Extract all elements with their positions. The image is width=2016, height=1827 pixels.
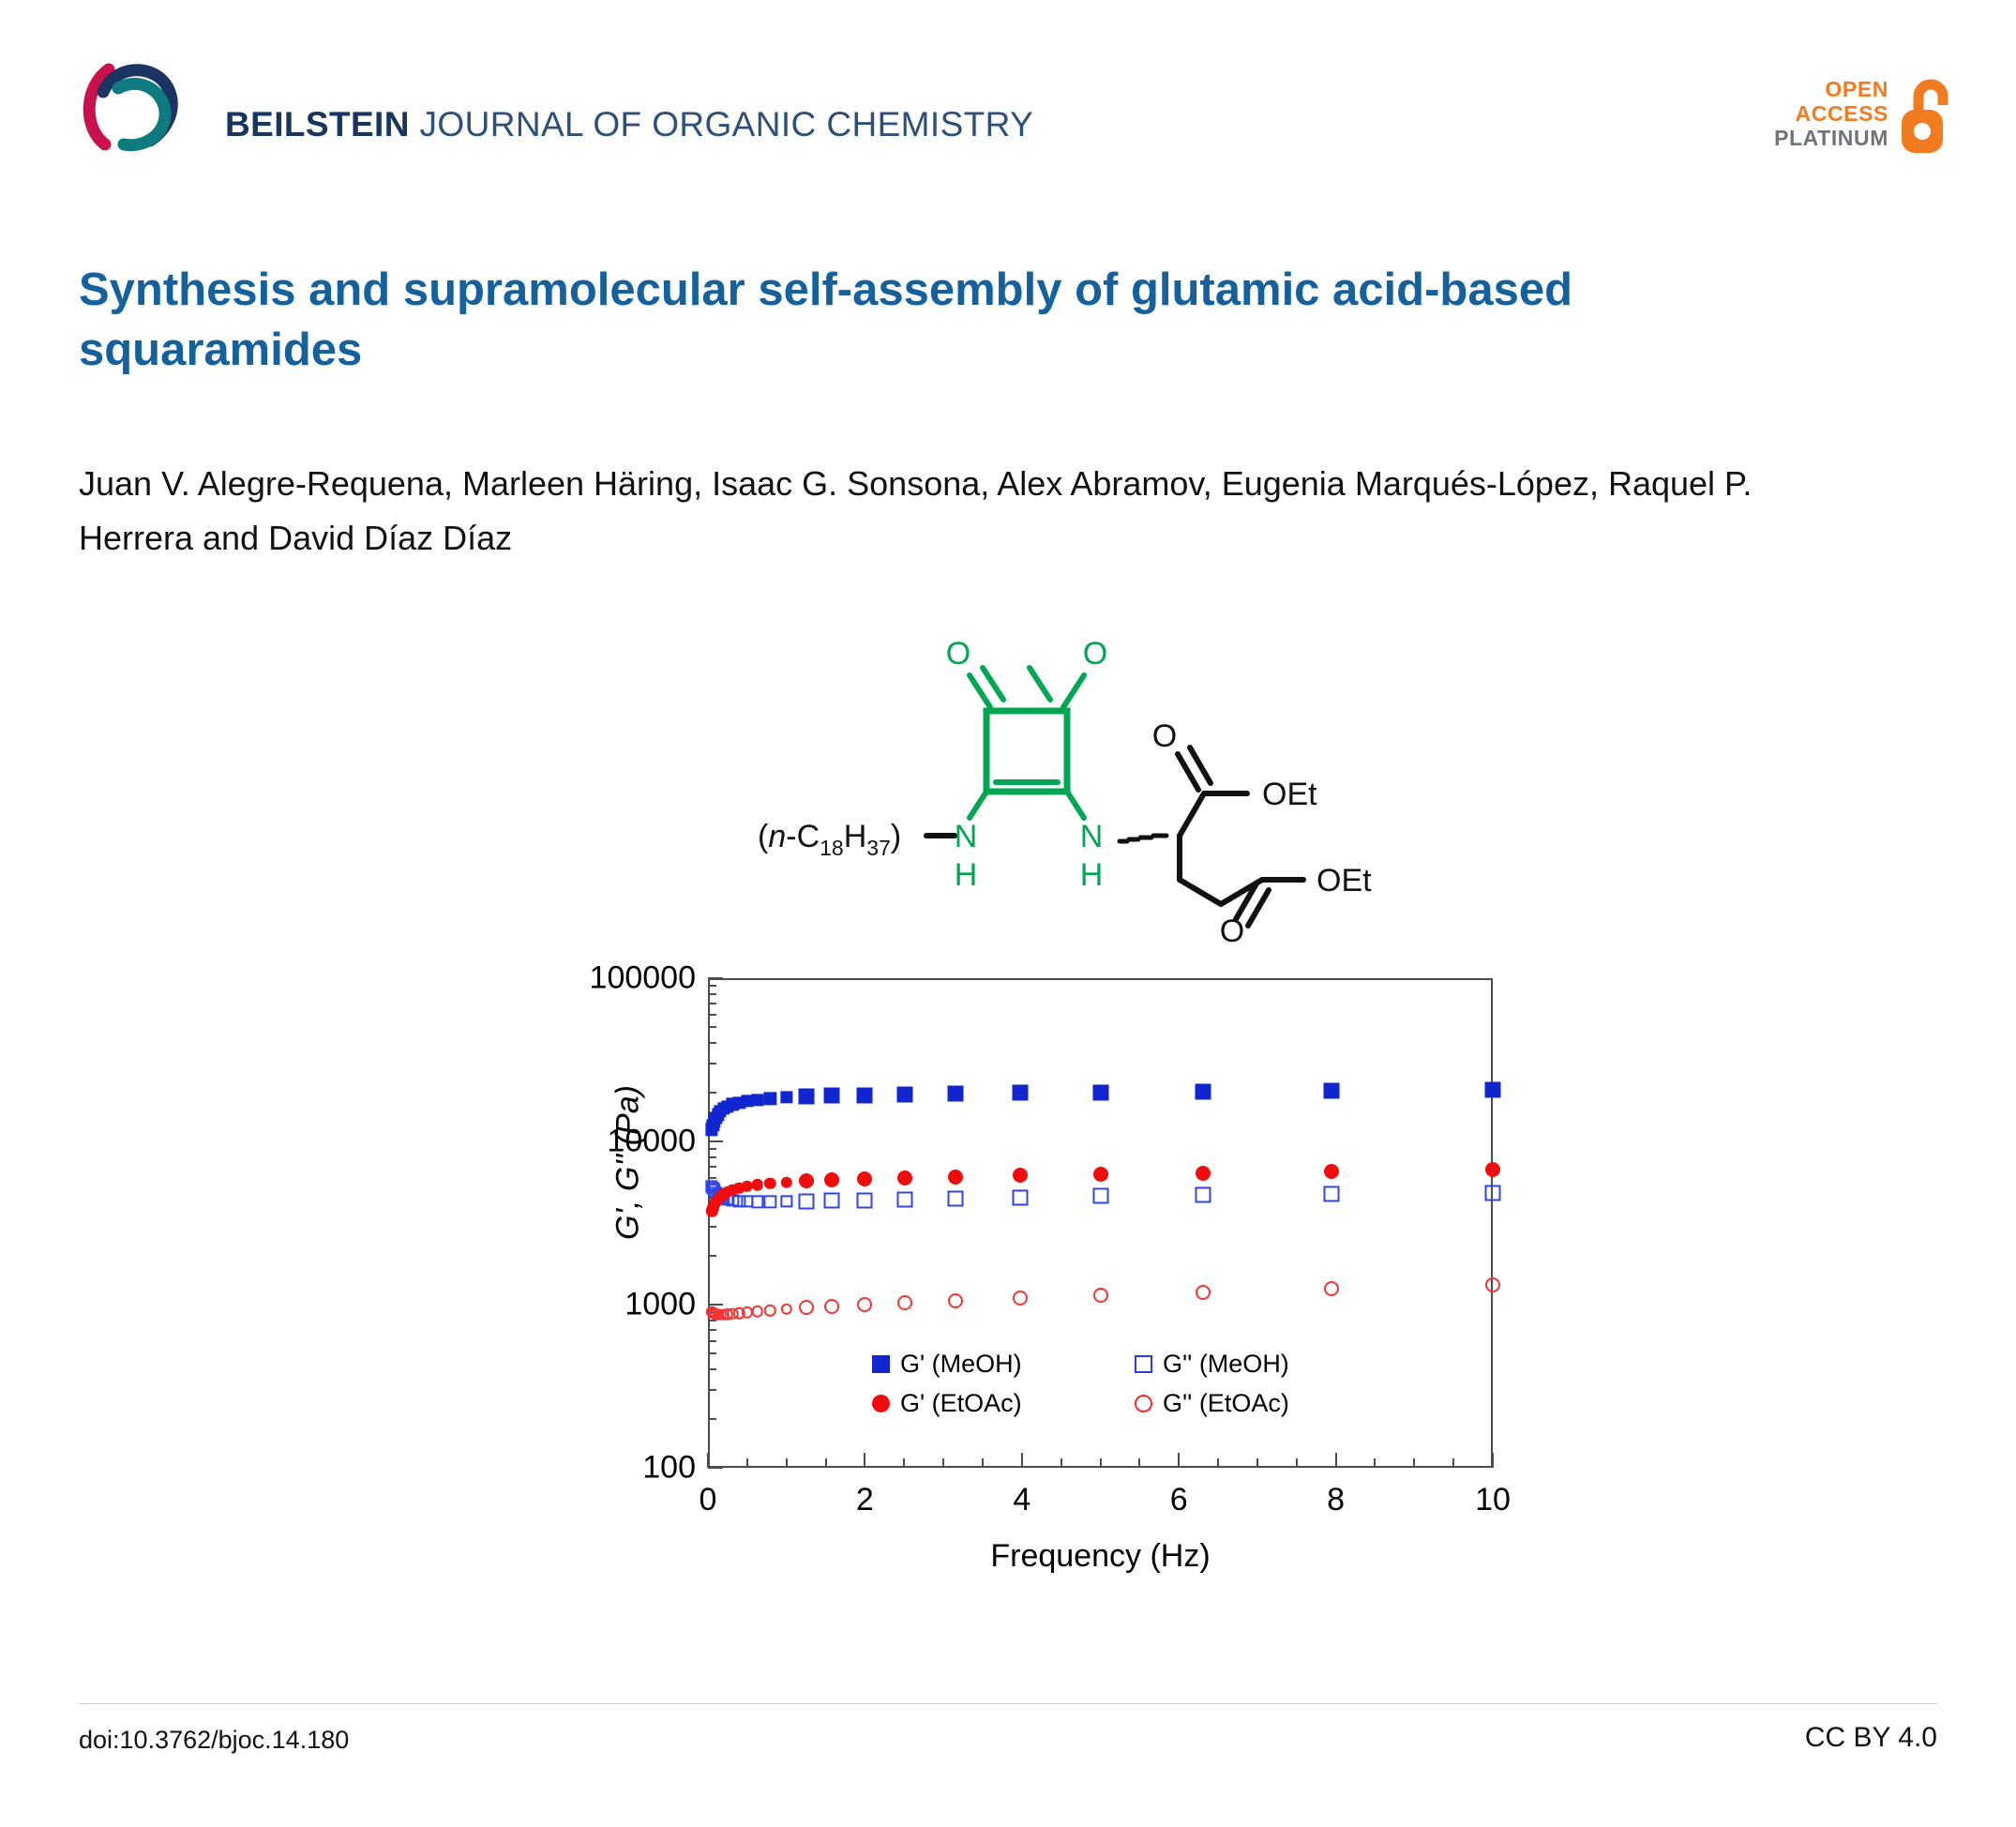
data-point-sqf bbox=[897, 1086, 913, 1102]
y-axis-title-text: G', G'' (Pa) bbox=[610, 1085, 646, 1240]
y-minor-tick bbox=[708, 1340, 716, 1342]
legend-marker-open-square-icon bbox=[1135, 1355, 1152, 1373]
data-point-cif bbox=[1093, 1167, 1108, 1182]
open-access-badge: OPEN ACCESS PLATINUM bbox=[1774, 64, 1958, 165]
data-point-sqf bbox=[857, 1087, 873, 1103]
x-minor-tick bbox=[1452, 1458, 1454, 1468]
y-major-tick bbox=[708, 1467, 723, 1469]
open-padlock-icon bbox=[1898, 74, 1958, 155]
legend-label-g-double-prime-etoac: G'' (EtOAc) bbox=[1163, 1389, 1289, 1418]
y-minor-tick bbox=[708, 1389, 716, 1391]
y-tick-label-100000: 100000 bbox=[590, 960, 696, 997]
x-major-tick bbox=[864, 1453, 865, 1468]
graphical-abstract-figure: O O N H N H O OEt O OEt (n-C18H37) bbox=[0, 610, 2016, 1660]
x-tick-label: 6 bbox=[1170, 1482, 1188, 1518]
data-point-sqo bbox=[1196, 1187, 1211, 1203]
data-point-cif bbox=[824, 1172, 839, 1187]
y-minor-tick bbox=[708, 1226, 716, 1228]
scheme-label-h-left: H bbox=[955, 857, 978, 893]
x-minor-tick bbox=[1061, 1458, 1062, 1468]
open-access-text: OPEN ACCESS PLATINUM bbox=[1774, 78, 1888, 150]
y-axis-title: G', G'' (Pa) bbox=[610, 1004, 647, 1322]
open-access-line3: PLATINUM bbox=[1774, 127, 1888, 151]
data-point-sqf bbox=[1196, 1083, 1211, 1099]
x-minor-tick bbox=[786, 1458, 788, 1468]
data-point-cif bbox=[857, 1171, 872, 1186]
legend-item-g-prime-etoac: G' (EtOAc) bbox=[872, 1389, 1135, 1418]
squaramide-structure-diagram: O O N H N H O OEt O OEt (n-C18H37) bbox=[741, 610, 1416, 947]
x-minor-tick bbox=[1100, 1458, 1102, 1468]
legend-row-1: G' (MeOH) G'' (MeOH) bbox=[872, 1344, 1397, 1383]
data-point-sqf bbox=[1013, 1085, 1029, 1101]
data-point-sqf bbox=[1485, 1082, 1501, 1098]
x-minor-tick bbox=[1217, 1458, 1219, 1468]
data-point-sqf bbox=[1323, 1083, 1339, 1099]
rheology-chart: 100000 10000 1000 100 G', G'' (Pa) 02468… bbox=[525, 957, 1557, 1576]
y-minor-tick bbox=[708, 1329, 716, 1331]
scheme-label-oet-upper: OEt bbox=[1262, 777, 1317, 812]
x-minor-tick bbox=[1413, 1458, 1415, 1468]
data-point-cio bbox=[857, 1297, 872, 1312]
scheme-label-o-ester-upper: O bbox=[1152, 718, 1177, 754]
y-tick-label-100: 100 bbox=[642, 1450, 696, 1487]
data-point-cif bbox=[799, 1173, 814, 1188]
x-axis-title: Frequency (Hz) bbox=[708, 1538, 1493, 1575]
y-minor-tick bbox=[708, 985, 716, 987]
x-tick-label: 8 bbox=[1327, 1482, 1345, 1518]
data-point-cio bbox=[1196, 1285, 1211, 1300]
scheme-label-o-top-left: O bbox=[946, 636, 970, 672]
y-major-tick bbox=[708, 1140, 723, 1142]
data-point-sqo bbox=[948, 1190, 964, 1206]
data-point-sqo bbox=[857, 1192, 873, 1208]
data-point-cio bbox=[948, 1293, 963, 1308]
x-minor-tick bbox=[982, 1458, 984, 1468]
data-point-cif bbox=[948, 1170, 963, 1185]
x-major-tick bbox=[1178, 1453, 1180, 1468]
x-tick-label: 2 bbox=[856, 1482, 874, 1518]
scheme-label-h-right: H bbox=[1080, 857, 1104, 893]
y-minor-tick bbox=[708, 1014, 716, 1016]
brand-rest: JOURNAL OF ORGANIC CHEMISTRY bbox=[410, 105, 1033, 143]
x-tick-label: 10 bbox=[1475, 1482, 1511, 1518]
data-point-sqf bbox=[780, 1091, 792, 1103]
author-list: Juan V. Alegre-Requena, Marleen Häring, … bbox=[79, 457, 1842, 566]
x-minor-tick bbox=[942, 1458, 944, 1468]
data-point-sqo bbox=[764, 1196, 776, 1208]
x-minor-tick bbox=[746, 1458, 748, 1468]
x-minor-tick bbox=[903, 1458, 905, 1468]
data-point-cif bbox=[897, 1170, 912, 1185]
y-minor-tick bbox=[708, 1148, 716, 1150]
data-point-sqo bbox=[1093, 1188, 1109, 1204]
page-title: Synthesis and supramolecular self-assemb… bbox=[79, 261, 1842, 380]
data-point-sqo bbox=[824, 1193, 840, 1209]
x-major-tick bbox=[1492, 1453, 1494, 1468]
data-point-sqo bbox=[1013, 1189, 1029, 1205]
data-point-cif bbox=[1324, 1164, 1339, 1179]
y-minor-tick bbox=[708, 1177, 716, 1179]
x-minor-tick bbox=[825, 1458, 827, 1468]
data-point-sqf bbox=[1093, 1084, 1109, 1100]
x-major-tick bbox=[1335, 1453, 1337, 1468]
legend-marker-filled-circle-icon bbox=[872, 1395, 890, 1412]
legend-item-g-double-prime-etoac: G'' (EtOAc) bbox=[1135, 1389, 1397, 1418]
y-minor-tick bbox=[708, 1063, 716, 1064]
data-point-cio bbox=[897, 1295, 912, 1310]
x-minor-tick bbox=[1296, 1458, 1298, 1468]
article-cover-page: BEILSTEIN JOURNAL OF ORGANIC CHEMISTRY O… bbox=[0, 0, 2016, 1827]
x-tick-label: 4 bbox=[1013, 1482, 1031, 1518]
data-point-cio bbox=[1093, 1288, 1108, 1303]
legend-item-g-prime-meoh: G' (MeOH) bbox=[872, 1350, 1135, 1379]
beilstein-spiral-logo-icon bbox=[73, 54, 186, 158]
y-minor-tick bbox=[708, 1092, 716, 1094]
x-minor-tick bbox=[1374, 1458, 1376, 1468]
legend-label-g-prime-meoh: G' (MeOH) bbox=[900, 1350, 1022, 1379]
x-major-tick bbox=[707, 1453, 709, 1468]
scheme-label-n-right: N bbox=[1080, 819, 1104, 854]
x-major-tick bbox=[1021, 1453, 1023, 1468]
data-point-cio bbox=[1485, 1277, 1500, 1292]
y-minor-tick bbox=[708, 1156, 716, 1158]
y-minor-tick bbox=[708, 993, 716, 995]
legend-item-g-double-prime-meoh: G'' (MeOH) bbox=[1135, 1350, 1397, 1379]
legend-marker-open-circle-icon bbox=[1135, 1395, 1152, 1412]
data-point-cio bbox=[1324, 1281, 1339, 1296]
data-point-sqo bbox=[1485, 1185, 1501, 1200]
y-minor-tick bbox=[708, 1042, 716, 1044]
legend-row-2: G' (EtOAc) G'' (EtOAc) bbox=[872, 1383, 1397, 1423]
legend-marker-filled-square-icon bbox=[872, 1355, 890, 1373]
data-point-sqf bbox=[824, 1088, 840, 1104]
y-minor-tick bbox=[708, 1003, 716, 1004]
data-point-sqf bbox=[799, 1089, 815, 1105]
legend-label-g-double-prime-meoh: G'' (MeOH) bbox=[1163, 1350, 1289, 1379]
scheme-label-n-left: N bbox=[955, 819, 978, 854]
data-point-sqf bbox=[948, 1086, 964, 1102]
y-minor-tick bbox=[708, 1026, 716, 1028]
legend-label-g-prime-etoac: G' (EtOAc) bbox=[900, 1389, 1022, 1418]
footer-divider bbox=[79, 1703, 1937, 1704]
doi-text: doi:10.3762/bjoc.14.180 bbox=[79, 1726, 349, 1755]
data-point-sqo bbox=[1323, 1185, 1339, 1201]
data-point-sqf bbox=[764, 1093, 776, 1105]
open-access-line2: ACCESS bbox=[1796, 102, 1888, 127]
scheme-label-o-top-right: O bbox=[1083, 636, 1107, 672]
x-minor-tick bbox=[1138, 1458, 1140, 1468]
x-minor-tick bbox=[1256, 1458, 1258, 1468]
open-access-line1: OPEN bbox=[1825, 78, 1888, 102]
y-minor-tick bbox=[708, 1418, 716, 1420]
y-minor-tick bbox=[708, 1166, 716, 1168]
data-point-sqo bbox=[799, 1193, 815, 1209]
data-point-sqo bbox=[780, 1196, 792, 1208]
y-minor-tick bbox=[708, 1255, 716, 1257]
license-text: CC BY 4.0 bbox=[1805, 1722, 1937, 1754]
chart-legend: G' (MeOH) G'' (MeOH) G' (EtOAc) G'' (EtO… bbox=[872, 1344, 1397, 1423]
y-minor-tick bbox=[708, 1352, 716, 1354]
scheme-label-left-chain: (n-C18H37) bbox=[758, 819, 901, 860]
journal-brand: BEILSTEIN JOURNAL OF ORGANIC CHEMISTRY bbox=[225, 105, 1033, 144]
data-point-cif bbox=[1485, 1162, 1500, 1177]
brand-bold: BEILSTEIN bbox=[225, 105, 410, 143]
data-point-sqf bbox=[751, 1094, 763, 1106]
data-point-sqo bbox=[897, 1191, 913, 1207]
data-point-cif bbox=[1013, 1168, 1028, 1183]
y-major-tick bbox=[708, 977, 723, 979]
data-point-cio bbox=[1013, 1291, 1028, 1306]
data-point-sqo bbox=[751, 1196, 763, 1208]
y-minor-tick bbox=[708, 1368, 716, 1370]
scheme-label-oet-lower: OEt bbox=[1316, 863, 1372, 898]
page-header: BEILSTEIN JOURNAL OF ORGANIC CHEMISTRY O… bbox=[0, 0, 2016, 188]
data-point-cio bbox=[824, 1299, 839, 1314]
data-point-cif bbox=[1196, 1166, 1211, 1181]
data-point-cio bbox=[799, 1300, 814, 1315]
x-tick-label: 0 bbox=[700, 1482, 717, 1518]
scheme-label-o-ester-lower: O bbox=[1220, 913, 1244, 947]
